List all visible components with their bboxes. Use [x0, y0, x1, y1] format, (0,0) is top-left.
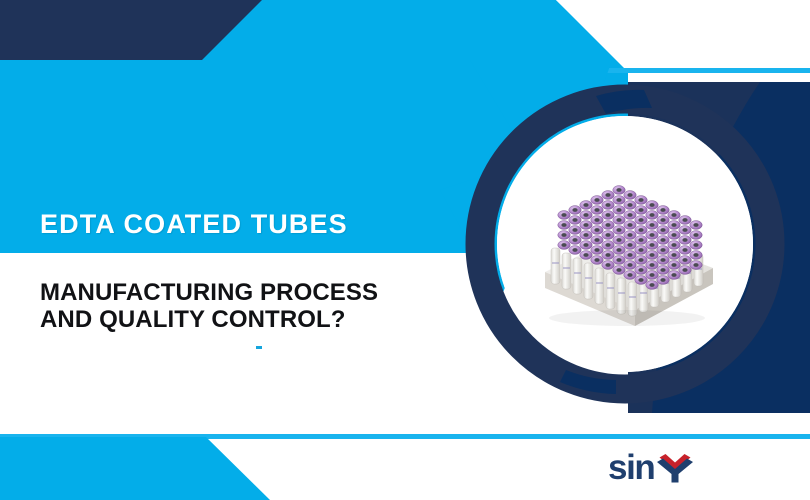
- y-chevron-navy: [657, 459, 693, 483]
- page-title: MANUFACTURING PROCESS AND QUALITY CONTRO…: [40, 279, 460, 333]
- promotional-banner: EDTA COATED TUBES MANUFACTURING PROCESS …: [0, 0, 810, 500]
- headline-line-2: AND QUALITY CONTROL?: [40, 306, 460, 333]
- y-chevron-icon: [655, 450, 695, 483]
- edta-tube-rack-illustration: [527, 168, 727, 328]
- product-image: [497, 116, 753, 372]
- accent-dash: [256, 346, 262, 349]
- rack-shadow: [549, 310, 705, 326]
- logo-wordmark: sin: [608, 451, 654, 484]
- brand-logo[interactable]: sin: [608, 450, 695, 484]
- headline-line-1: MANUFACTURING PROCESS: [40, 279, 378, 306]
